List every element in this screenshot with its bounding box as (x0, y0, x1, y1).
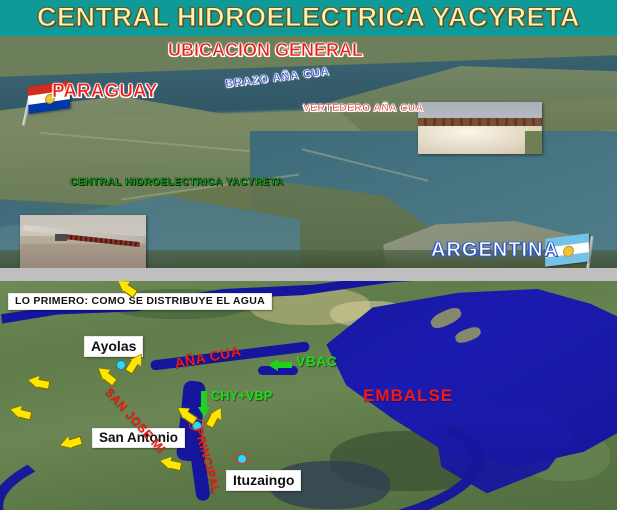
spillway-photo-inset (418, 102, 542, 154)
spillway-foam (418, 126, 542, 154)
place-label-ituzaingo: Ituzaingo (226, 470, 301, 491)
page-title: CENTRAL HIDROELECTRICA YACYRETA (0, 2, 617, 33)
green-left-arrow-vbac (268, 359, 292, 371)
bottom-satellite-imagery (0, 281, 617, 510)
spillway-riverbank (525, 131, 542, 154)
top-map-panel: UBICACION GENERAL PARAGUAY BRAZO AÑA CUA… (0, 36, 617, 268)
slide-canvas: CENTRAL HIDROELECTRICA YACYRETA (0, 0, 617, 510)
marker-circle-ituzaingo (234, 452, 250, 464)
panel-separator (0, 268, 617, 281)
label-argentina: ARGENTINA (431, 239, 559, 262)
flow-label-chy-vbp: CHY+VBP (211, 389, 273, 403)
powerhouse-photo-inset (20, 215, 146, 268)
label-central-hidroelectrica-yacyreta: CENTRAL HIDROELECTRICA YACYRETA (70, 177, 284, 188)
green-down-arrow-chy-vbp (198, 391, 210, 417)
flow-label-vbac: VBAC (296, 353, 337, 369)
spillway-gates (418, 118, 542, 126)
bottom-map-panel: LO PRIMERO: COMO SE DISTRIBUYE EL AGUA A… (0, 281, 617, 510)
label-paraguay: PARAGUAY (52, 81, 158, 103)
title-bar: CENTRAL HIDROELECTRICA YACYRETA (0, 0, 617, 36)
powerhouse-building (55, 234, 66, 240)
channel-label-embalse: EMBALSE (363, 386, 453, 406)
banner-distribucion-agua: LO PRIMERO: COMO SE DISTRIBUYE EL AGUA (8, 293, 272, 310)
label-vertedero-ana-cua: VERTEDERO AÑA CUA (303, 103, 424, 114)
argentina-flag-sun (563, 245, 574, 257)
label-ubicacion-general: UBICACION GENERAL (168, 40, 363, 61)
powerhouse-tailwater (20, 244, 146, 268)
